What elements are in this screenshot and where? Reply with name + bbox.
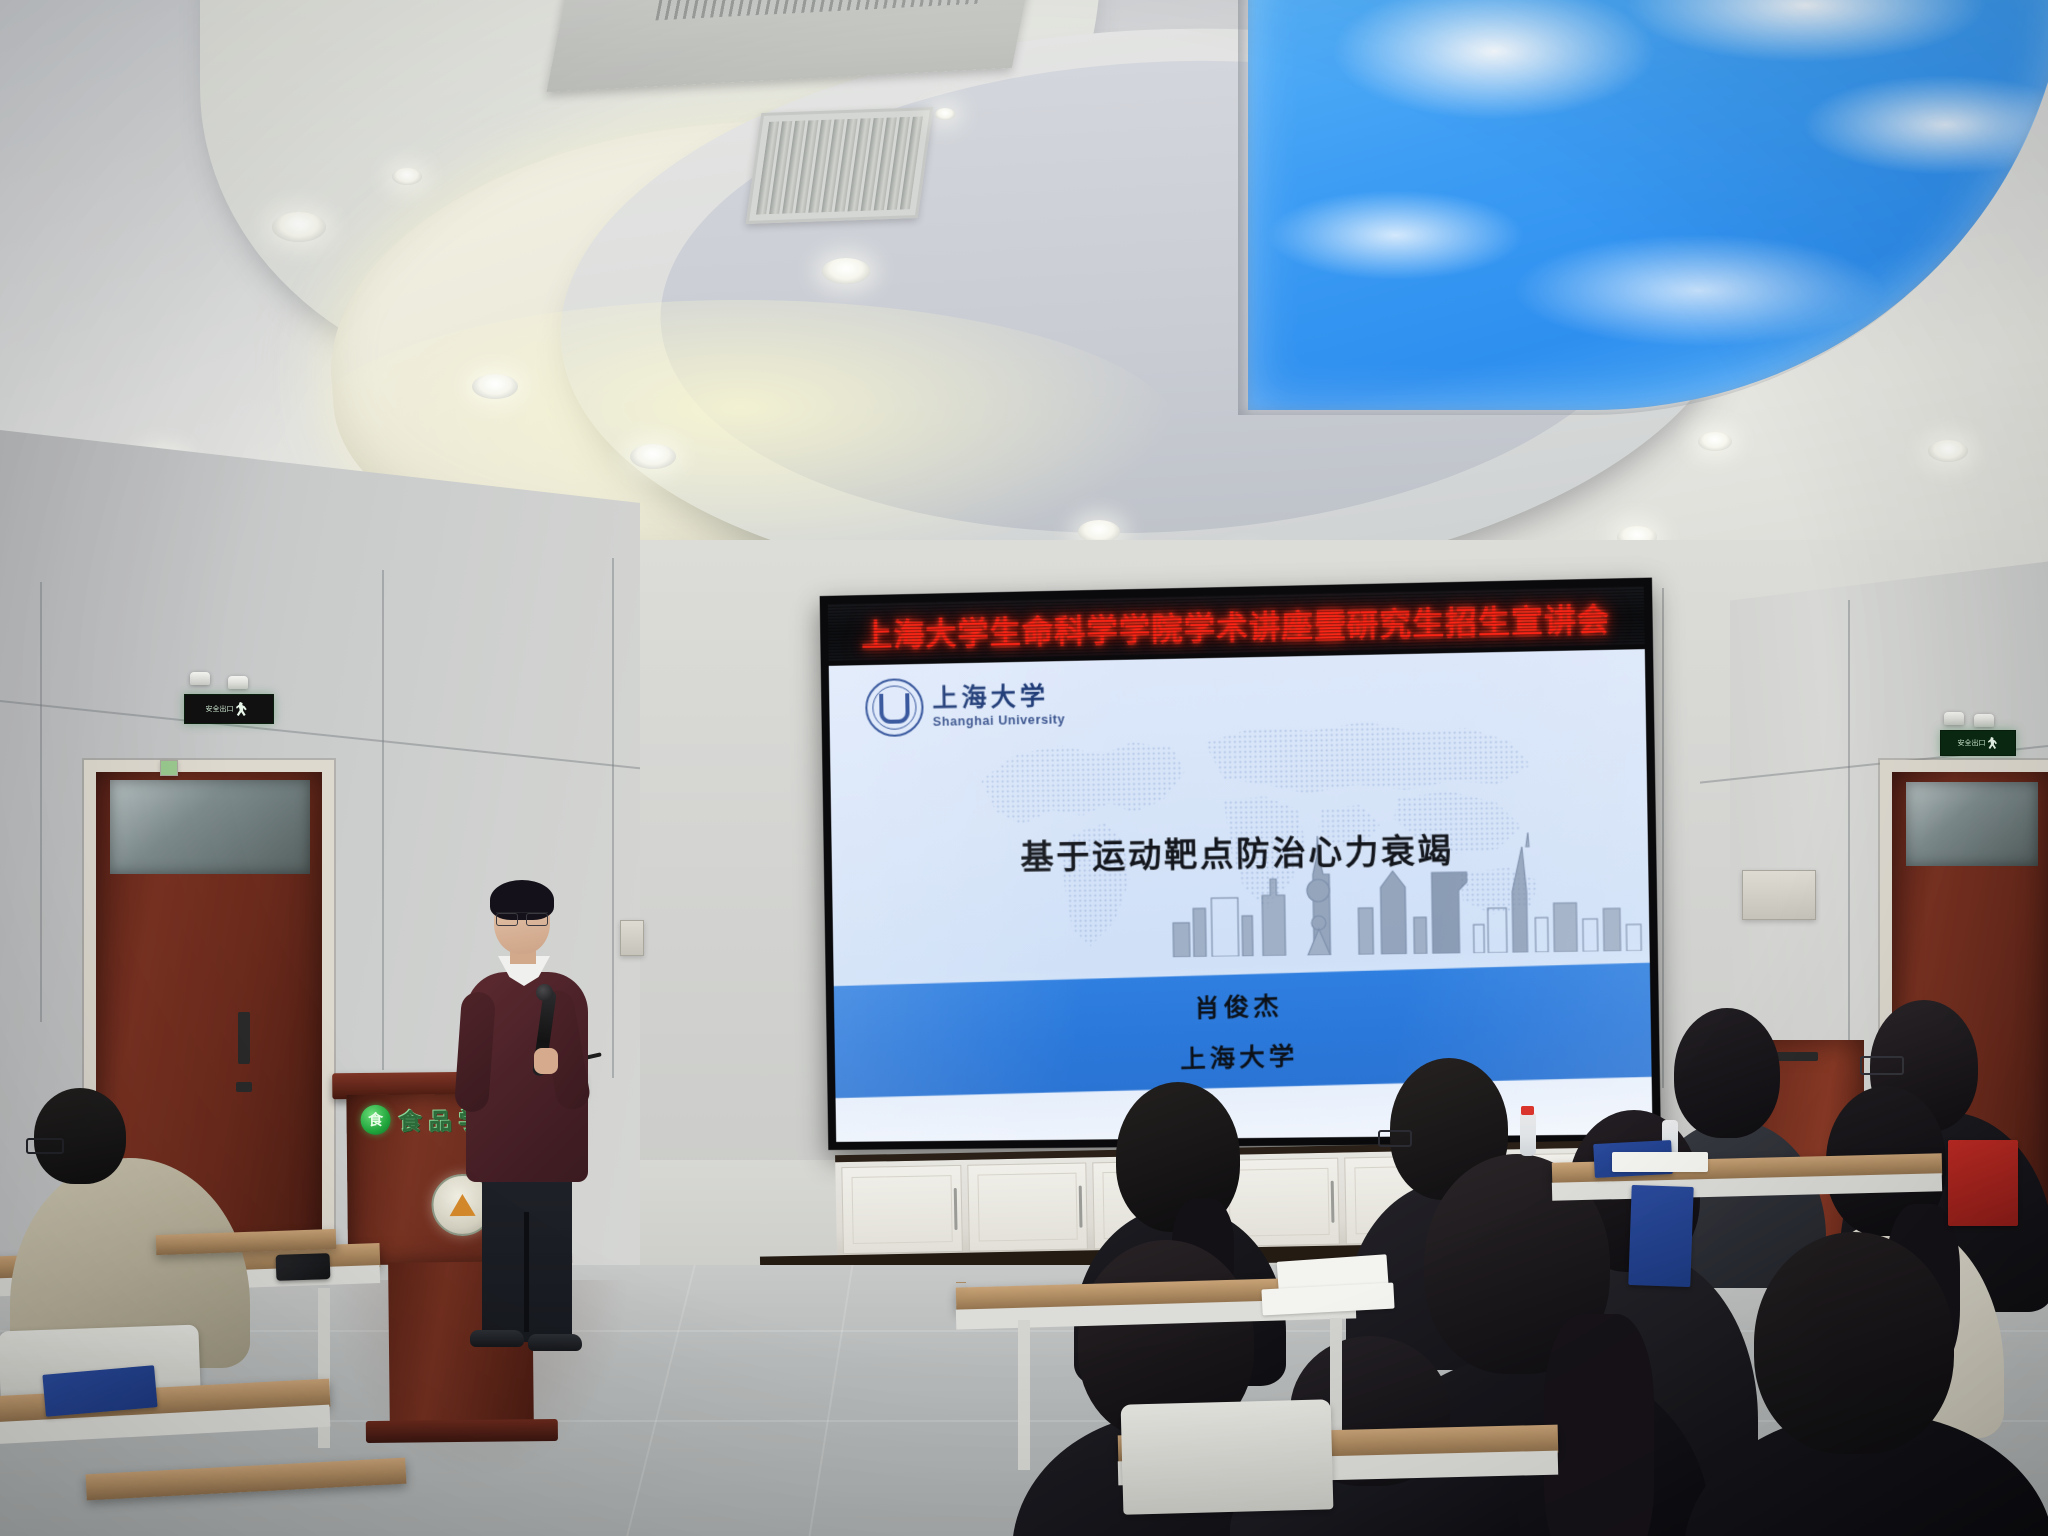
door-handle-left[interactable] bbox=[238, 1012, 250, 1064]
cabinet-handle[interactable] bbox=[1330, 1181, 1334, 1223]
exit-sign-text-left: 安全出口 bbox=[206, 704, 234, 714]
emergency-lamp bbox=[228, 676, 248, 689]
wall-seam bbox=[1848, 600, 1850, 1040]
chair[interactable] bbox=[1121, 1399, 1334, 1514]
university-logo: 上海大学 Shanghai University bbox=[865, 675, 1065, 737]
cabinet-door[interactable] bbox=[967, 1162, 1088, 1251]
exit-sign-right: 安全出口 bbox=[1940, 730, 2016, 756]
running-man-icon bbox=[1988, 737, 1999, 749]
emblem-u-shape bbox=[879, 693, 910, 724]
downlight bbox=[1928, 440, 1968, 462]
led-banner-text: 上海大学生命科学学院学术讲座暨研究生招生宣讲会 bbox=[861, 593, 1611, 654]
presenter bbox=[452, 872, 602, 1352]
handout-papers[interactable] bbox=[1612, 1152, 1708, 1172]
wall-outlet[interactable] bbox=[160, 760, 178, 776]
audience-member-front-left bbox=[10, 1080, 260, 1360]
door-window-right bbox=[1906, 782, 2038, 866]
logo-text-en: Shanghai University bbox=[933, 713, 1066, 728]
presenter-shoe bbox=[528, 1334, 582, 1351]
emergency-lamp bbox=[190, 672, 210, 685]
speaker-name: 肖俊杰 bbox=[1194, 986, 1283, 1025]
desk-leg bbox=[1018, 1320, 1030, 1470]
wall-seam bbox=[612, 558, 614, 1078]
microphone-head-icon bbox=[536, 984, 553, 1001]
running-man-icon bbox=[236, 702, 249, 716]
presenter-leg-gap bbox=[524, 1212, 529, 1332]
food-college-logo-icon: 食 bbox=[360, 1105, 390, 1135]
presenter-hand bbox=[534, 1048, 558, 1074]
emergency-lamp bbox=[1944, 712, 1964, 725]
audience-member-front bbox=[1714, 1232, 2014, 1536]
downlight bbox=[822, 258, 870, 284]
shanghai-university-emblem-icon bbox=[865, 678, 924, 737]
red-folder[interactable] bbox=[1948, 1140, 2018, 1226]
bottle-cap bbox=[1521, 1106, 1534, 1115]
air-vent bbox=[746, 107, 934, 224]
cabinet-door[interactable] bbox=[841, 1165, 962, 1254]
lectern-base bbox=[366, 1419, 558, 1443]
downlight bbox=[935, 108, 955, 120]
door-window-left bbox=[110, 780, 310, 874]
exit-sign-text-right: 安全出口 bbox=[1958, 738, 1986, 748]
emergency-lamp bbox=[1974, 714, 1994, 727]
audience-head bbox=[1754, 1232, 1954, 1454]
speaker-affiliation: 上海大学 bbox=[1180, 1037, 1299, 1077]
desk bbox=[956, 1282, 966, 1283]
glasses-icon bbox=[1378, 1130, 1412, 1147]
downlight bbox=[630, 444, 676, 469]
logo-text-cn: 上海大学 bbox=[932, 683, 1065, 711]
led-banner: 上海大学生命科学学院学术讲座暨研究生招生宣讲会 bbox=[828, 586, 1645, 662]
downlight bbox=[392, 168, 422, 185]
cabinet-handle[interactable] bbox=[1079, 1186, 1083, 1228]
water-bottle[interactable] bbox=[1520, 1112, 1536, 1156]
glasses-icon bbox=[1860, 1056, 1904, 1075]
lecture-hall-photo: 安全出口 安全出口 上海大学生命科学学院学术讲座暨研究生招生宣讲会 bbox=[0, 0, 2048, 1536]
glasses-icon bbox=[26, 1138, 64, 1154]
downlight bbox=[1698, 432, 1732, 451]
projector-screen-switch[interactable] bbox=[620, 920, 644, 956]
downlight bbox=[272, 212, 326, 242]
presenter-shoe bbox=[470, 1330, 524, 1347]
wall-seam bbox=[40, 582, 42, 1022]
smartphone[interactable] bbox=[276, 1253, 331, 1281]
vent-slats bbox=[756, 116, 923, 214]
wall-seam bbox=[382, 570, 384, 1070]
logo-wordmark: 上海大学 Shanghai University bbox=[932, 683, 1065, 728]
downlight bbox=[472, 374, 518, 399]
exit-sign-left: 安全出口 bbox=[184, 694, 274, 724]
glasses-icon bbox=[496, 912, 548, 924]
hair-long bbox=[1544, 1314, 1654, 1536]
wall-control-panel[interactable] bbox=[1742, 870, 1816, 920]
audience-head bbox=[34, 1088, 126, 1184]
blue-brochure[interactable] bbox=[1628, 1185, 1693, 1287]
cabinet-handle[interactable] bbox=[953, 1188, 957, 1230]
